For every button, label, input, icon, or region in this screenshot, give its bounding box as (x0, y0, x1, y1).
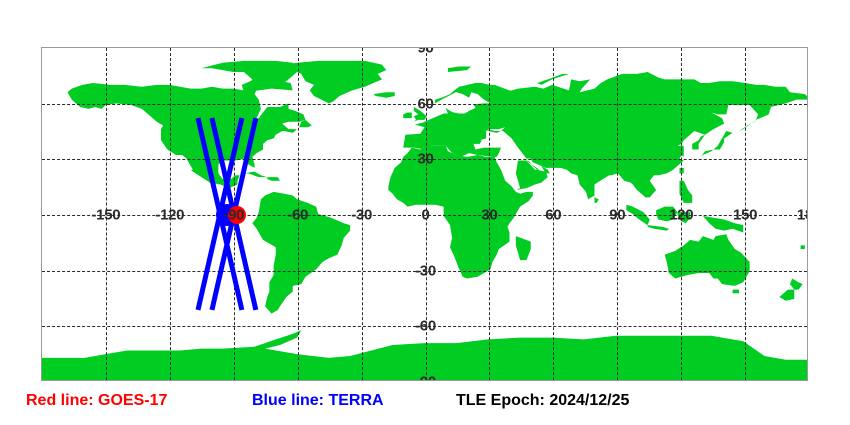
legend-red-line-goes17: Red line: GOES-17 (26, 392, 167, 410)
latitude-label-90: 90 (417, 48, 433, 57)
longitude-label-0: 0 (421, 207, 429, 224)
latitude-label-60: 60 (417, 95, 433, 112)
latitude-label-neg90: -90 (415, 374, 436, 381)
longitude-label-neg120: -120 (155, 207, 184, 224)
legend-blue-line-terra: Blue line: TERRA (252, 392, 384, 410)
longitude-label-60: 60 (545, 207, 561, 224)
longitude-label-neg90: -90 (223, 207, 244, 224)
map-clip-region: -300306090120150180-150-120-90-60906030-… (42, 48, 807, 380)
longitude-label-180: 180 (797, 207, 807, 224)
latitude-label-neg60: -60 (415, 318, 436, 335)
longitude-label-neg60: -60 (287, 207, 308, 224)
world-map-panel: -300306090120150180-150-120-90-60906030-… (41, 47, 808, 381)
longitude-label-90: 90 (609, 207, 625, 224)
longitude-label-neg150: -150 (91, 207, 120, 224)
latitude-label-30: 30 (417, 151, 433, 168)
longitude-label-120: 120 (669, 207, 693, 224)
longitude-label-neg30: -30 (351, 207, 372, 224)
longitude-label-30: 30 (481, 207, 497, 224)
legend-tle-epoch: TLE Epoch: 2024/12/25 (456, 392, 629, 410)
legend: Red line: GOES-17 Blue line: TERRA TLE E… (0, 392, 850, 422)
longitude-label-150: 150 (733, 207, 757, 224)
latitude-label-neg30: -30 (415, 262, 436, 279)
